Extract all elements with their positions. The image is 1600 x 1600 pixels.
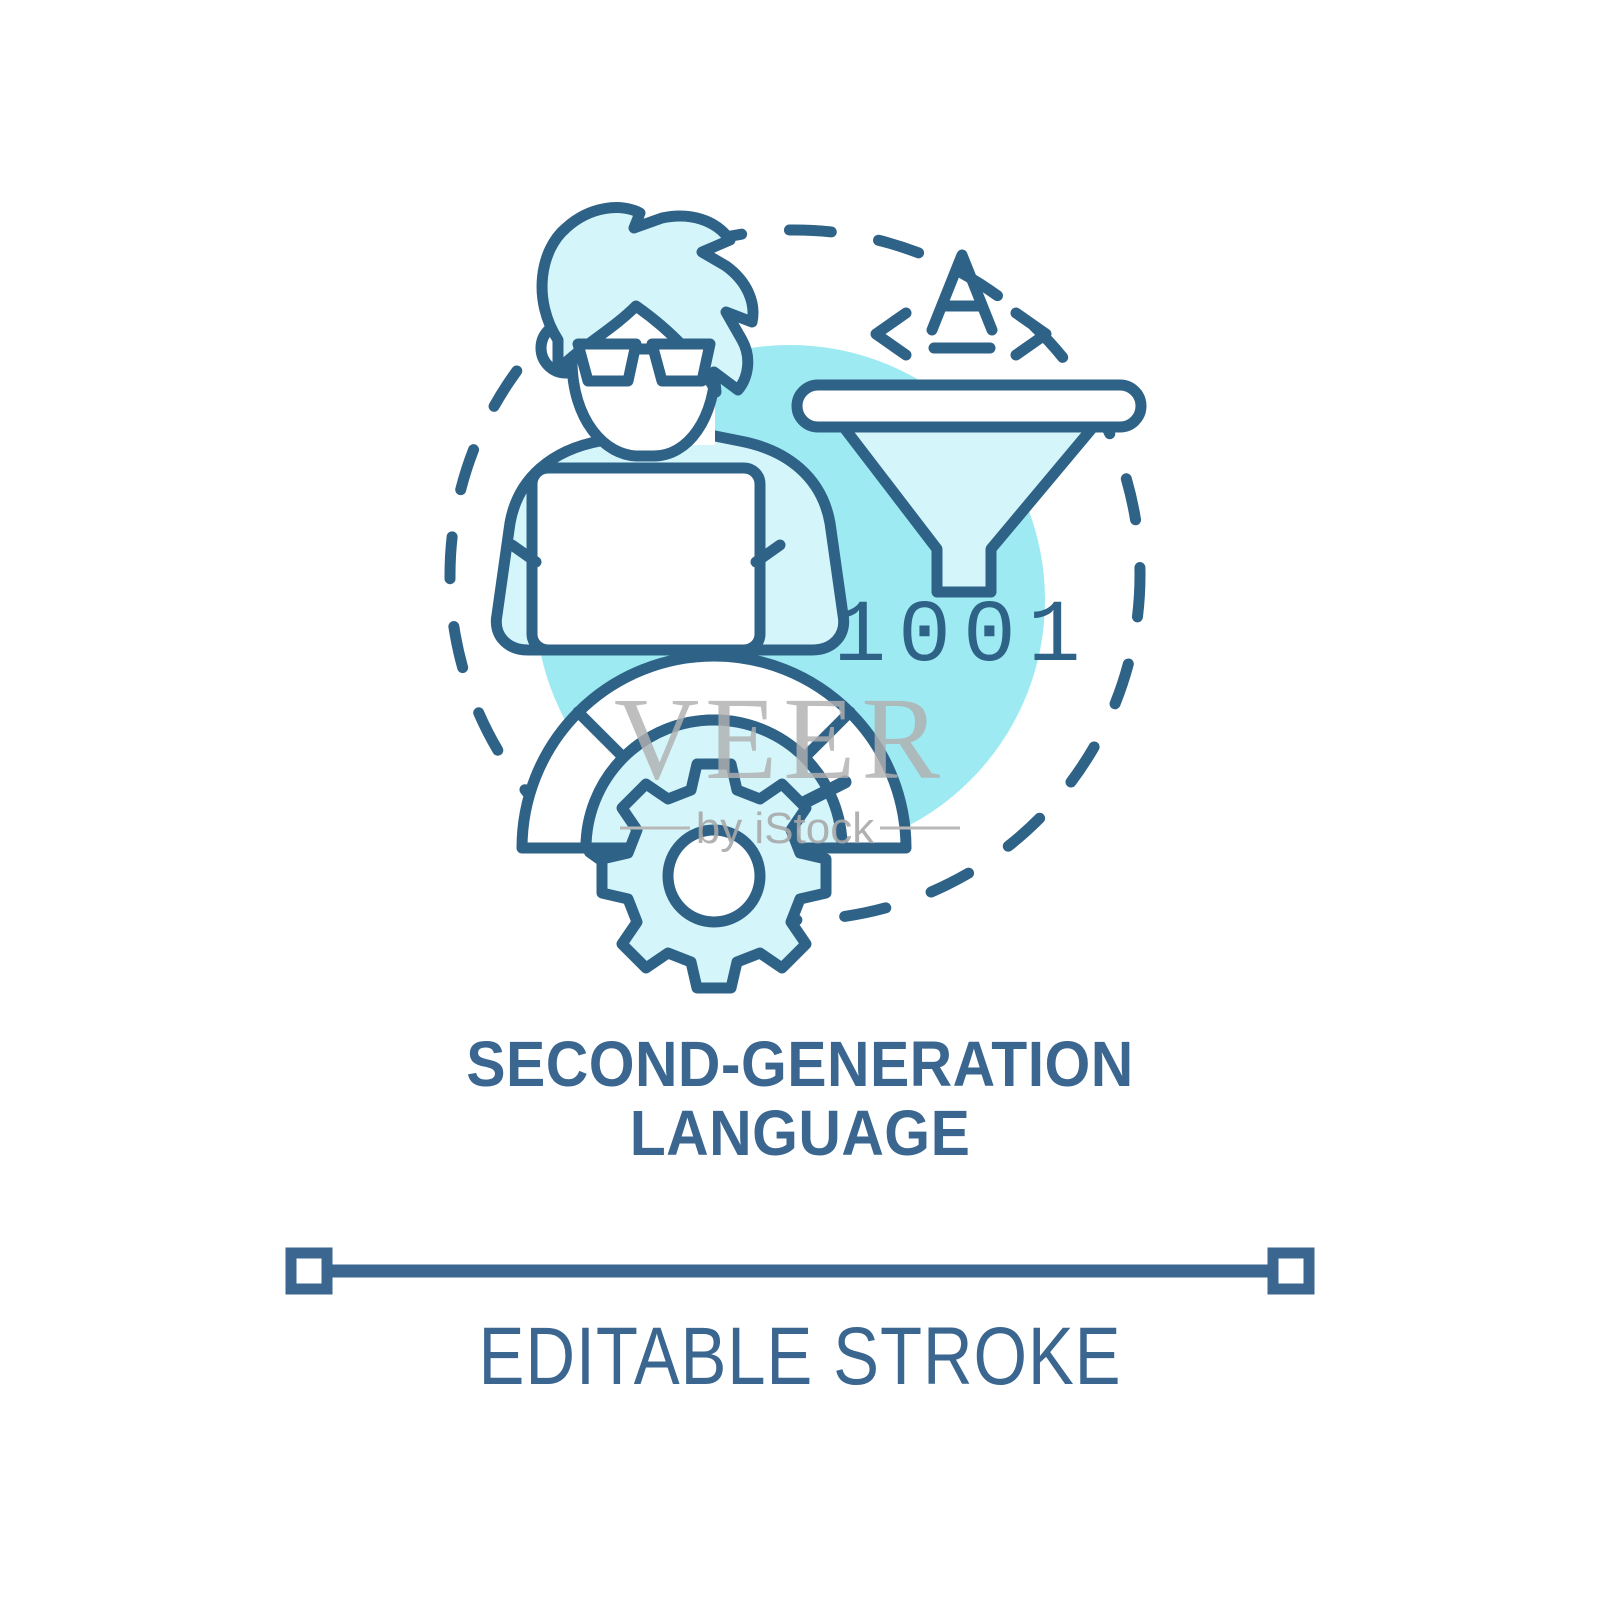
title-line-1: SECOND-GENERATION (64, 1030, 1536, 1099)
stroke-endpoint-left (291, 1253, 327, 1289)
right-angle-bracket (1016, 313, 1046, 355)
concept-illustration: 1001 (0, 0, 1600, 1040)
glasses-lens-right (652, 344, 710, 381)
glasses-lens-left (578, 344, 636, 381)
illustration-svg: 1001 (0, 0, 1600, 1040)
letter-a-glyph (932, 255, 992, 330)
footer-text: EDITABLE STROKE (128, 1310, 1472, 1404)
title-line-2: LANGUAGE (64, 1099, 1536, 1168)
icon-canvas: 1001 VEER (0, 0, 1600, 1600)
code-brackets-group (876, 255, 1046, 355)
stroke-width-indicator (0, 1222, 1600, 1312)
funnel-top-bar (797, 385, 1141, 427)
gear-center-hole (668, 830, 760, 922)
editable-stroke-label: EDITABLE STROKE (0, 1310, 1600, 1404)
gear-icon (602, 764, 826, 988)
concept-title: SECOND-GENERATION LANGUAGE (0, 1030, 1600, 1168)
laptop-screen (532, 468, 760, 650)
stroke-rule-svg (0, 1222, 1600, 1312)
binary-digits-text: 1001 (833, 588, 1092, 687)
stroke-endpoint-right (1273, 1253, 1309, 1289)
left-angle-bracket (876, 313, 906, 355)
